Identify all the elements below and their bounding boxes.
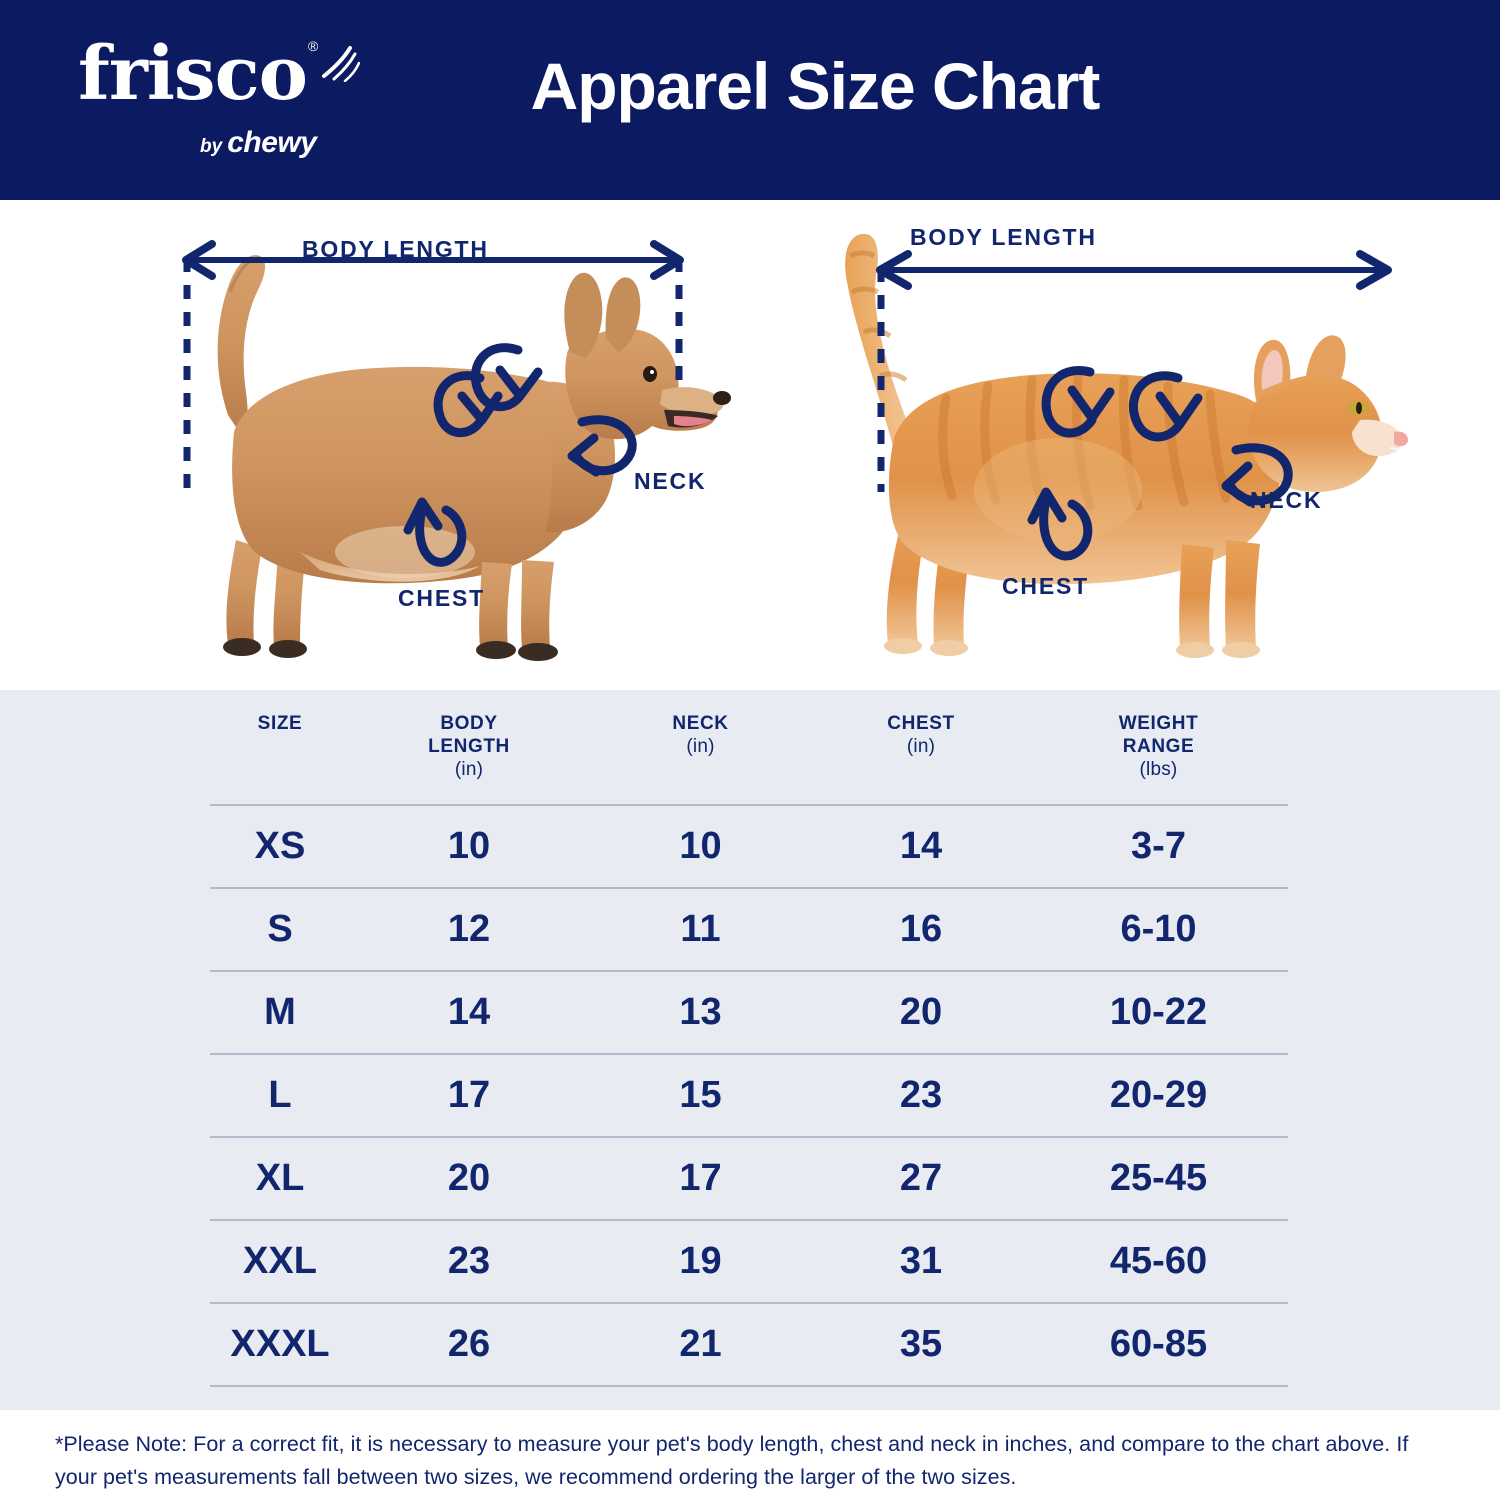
cell-body: 10 [350,805,588,888]
column-header-body-length: BODY LENGTH (in) [350,700,588,805]
footnote-text: *Please Note: For a correct fit, it is n… [55,1428,1455,1495]
cell-chest: 20 [813,971,1029,1054]
cat-illustration [790,200,1430,690]
cell-weight: 10-22 [1029,971,1288,1054]
dog-chest-label: CHEST [398,585,485,612]
cell-size: L [210,1054,350,1137]
cat-chest-label: CHEST [1002,573,1089,600]
column-header-body-line1: BODY [440,713,497,734]
cell-chest: 14 [813,805,1029,888]
table-row: XS1010143-7 [210,805,1288,888]
column-header-size: SIZE [210,700,350,805]
size-table-section: SIZE BODY LENGTH (in) NECK (in) CHEST (i… [0,690,1500,1410]
cell-weight: 20-29 [1029,1054,1288,1137]
table-row: XL20172725-45 [210,1137,1288,1220]
cell-chest: 35 [813,1303,1029,1386]
cell-weight: 3-7 [1029,805,1288,888]
column-header-size-text: SIZE [258,713,303,734]
cell-body: 12 [350,888,588,971]
dog-body-length-label: BODY LENGTH [302,236,489,263]
dog-diagram: BODY LENGTH NECK CHEST [150,200,760,690]
cat-neck-label: NECK [1250,487,1322,514]
logo-by-text: by [200,136,222,158]
column-header-neck-text: NECK [672,713,728,734]
cell-neck: 17 [588,1137,813,1220]
column-header-weight-unit: (lbs) [1029,758,1288,781]
cell-body: 23 [350,1220,588,1303]
cell-size: XL [210,1137,350,1220]
table-row: XXL23193145-60 [210,1220,1288,1303]
cell-chest: 27 [813,1137,1029,1220]
table-row: XXXL26213560-85 [210,1303,1288,1386]
column-header-body-line2: LENGTH [428,736,510,757]
cell-body: 20 [350,1137,588,1220]
cell-size: XXXL [210,1303,350,1386]
cat-diagram: BODY LENGTH NECK CHEST [790,200,1430,690]
table-header-row: SIZE BODY LENGTH (in) NECK (in) CHEST (i… [210,700,1288,805]
cat-body-length-label: BODY LENGTH [910,224,1097,251]
cell-chest: 31 [813,1220,1029,1303]
cell-neck: 19 [588,1220,813,1303]
column-header-chest-unit: (in) [813,735,1029,758]
cell-size: XXL [210,1220,350,1303]
dog-illustration [150,200,760,690]
column-header-chest: CHEST (in) [813,700,1029,805]
cell-chest: 16 [813,888,1029,971]
cell-neck: 11 [588,888,813,971]
table-body: XS1010143-7S1211166-10M14132010-22L17152… [210,805,1288,1386]
size-table: SIZE BODY LENGTH (in) NECK (in) CHEST (i… [210,700,1288,1387]
column-header-weight-line2: RANGE [1123,736,1195,757]
cell-body: 14 [350,971,588,1054]
cell-neck: 10 [588,805,813,888]
page-title: Apparel Size Chart [0,48,1500,124]
table-row: M14132010-22 [210,971,1288,1054]
cell-neck: 21 [588,1303,813,1386]
cell-size: XS [210,805,350,888]
column-header-body-unit: (in) [350,758,588,781]
cell-body: 26 [350,1303,588,1386]
cell-chest: 23 [813,1054,1029,1137]
table-row: L17152320-29 [210,1054,1288,1137]
cell-neck: 15 [588,1054,813,1137]
cell-body: 17 [350,1054,588,1137]
cell-weight: 25-45 [1029,1137,1288,1220]
dog-neck-label: NECK [634,468,706,495]
cell-weight: 45-60 [1029,1220,1288,1303]
cell-neck: 13 [588,971,813,1054]
logo-chewy-text: chewy [227,126,316,160]
column-header-chest-text: CHEST [887,713,954,734]
illustration-band: BODY LENGTH NECK CHEST [0,200,1500,690]
column-header-neck: NECK (in) [588,700,813,805]
cell-size: S [210,888,350,971]
cell-weight: 60-85 [1029,1303,1288,1386]
table-row: S1211166-10 [210,888,1288,971]
cell-size: M [210,971,350,1054]
header-bar: frisco® by chewy Apparel Size Chart [0,0,1500,200]
cell-weight: 6-10 [1029,888,1288,971]
column-header-neck-unit: (in) [588,735,813,758]
logo-byline: by chewy [200,126,316,160]
column-header-weight-line1: WEIGHT [1119,713,1199,734]
column-header-weight-range: WEIGHT RANGE (lbs) [1029,700,1288,805]
apparel-size-chart-page: frisco® by chewy Apparel Size Chart [0,0,1500,1500]
table-header: SIZE BODY LENGTH (in) NECK (in) CHEST (i… [210,700,1288,805]
